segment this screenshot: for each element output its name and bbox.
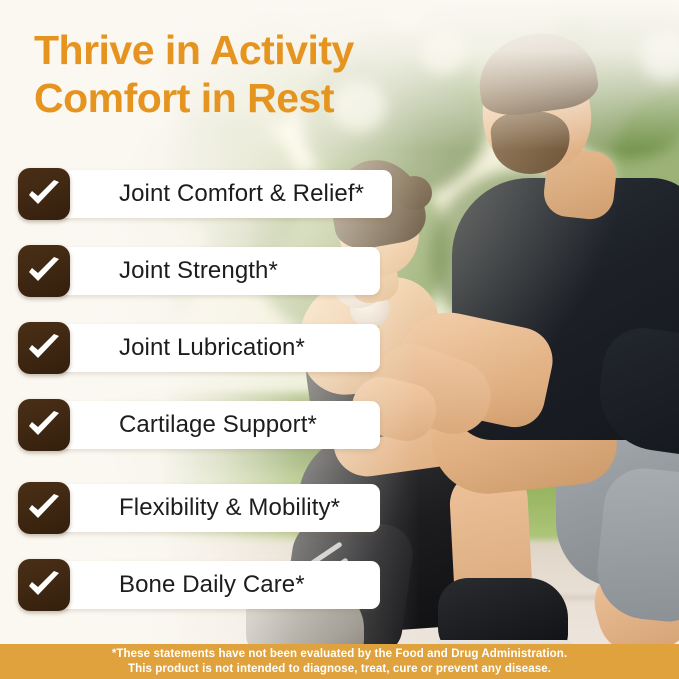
benefit-label-6: Bone Daily Care* bbox=[119, 571, 305, 599]
benefit-bar-5: Flexibility & Mobility* bbox=[56, 484, 380, 532]
benefit-bar-6: Bone Daily Care* bbox=[56, 561, 380, 609]
check-icon bbox=[18, 322, 70, 374]
benefit-bar-3: Joint Lubrication* bbox=[56, 324, 380, 372]
disclaimer-line-1: *These statements have not been evaluate… bbox=[112, 647, 567, 662]
disclaimer-line-2: This product is not intended to diagnose… bbox=[128, 662, 551, 677]
promo-image: Thrive in Activity Comfort in Rest Joint… bbox=[0, 0, 679, 679]
benefit-bar-4: Cartilage Support* bbox=[56, 401, 380, 449]
benefit-bar-1: Joint Comfort & Relief* bbox=[56, 170, 392, 218]
check-icon bbox=[18, 482, 70, 534]
benefit-label-1: Joint Comfort & Relief* bbox=[119, 180, 364, 208]
check-icon bbox=[18, 559, 70, 611]
check-icon bbox=[18, 168, 70, 220]
benefit-label-4: Cartilage Support* bbox=[119, 411, 317, 439]
benefit-bar-2: Joint Strength* bbox=[56, 247, 380, 295]
check-icon bbox=[18, 399, 70, 451]
benefit-label-3: Joint Lubrication* bbox=[119, 334, 305, 362]
benefit-label-5: Flexibility & Mobility* bbox=[119, 494, 340, 522]
check-icon bbox=[18, 245, 70, 297]
benefit-label-2: Joint Strength* bbox=[119, 257, 278, 285]
benefit-list: Joint Comfort & Relief* Joint Strength* … bbox=[0, 0, 679, 679]
disclaimer-footer: *These statements have not been evaluate… bbox=[0, 644, 679, 679]
